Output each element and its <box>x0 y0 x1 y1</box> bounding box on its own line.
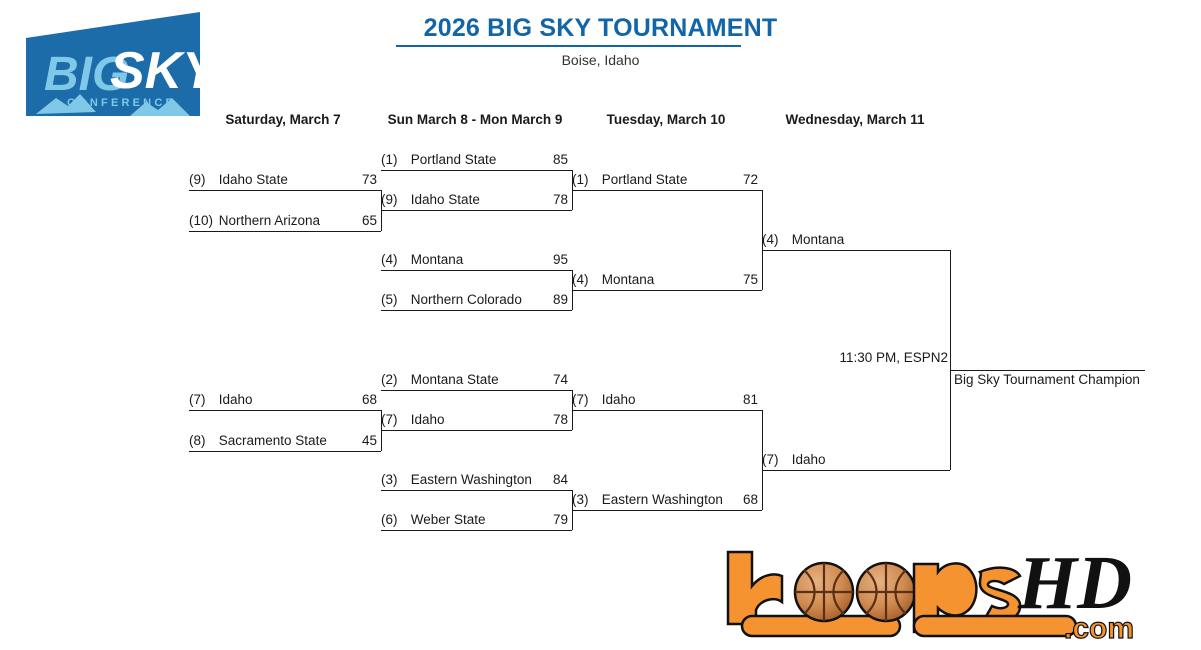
r2-slot-3: (4) Montana 95 <box>381 250 572 269</box>
r2-slot-7-team: Eastern Washington <box>411 470 532 489</box>
round-header-3: Tuesday, March 10 <box>568 112 764 127</box>
r2-line-2 <box>381 210 572 211</box>
r1-line-1 <box>189 190 381 191</box>
r1-line-3 <box>189 410 381 411</box>
r2-line-4 <box>381 310 572 311</box>
r2-slot-7-seed: (3) <box>381 470 407 489</box>
r3-line-1 <box>572 190 762 191</box>
r1-slot-3-score: 68 <box>362 390 377 409</box>
r1-slot-4-team: Sacramento State <box>219 431 327 450</box>
final-time-network: 11:30 PM, ESPN2 <box>770 350 948 365</box>
r2-slot-1: (1) Portland State 85 <box>381 150 572 169</box>
r1-slot-3-team: Idaho <box>219 390 253 409</box>
r3-slot-2-team: Montana <box>602 270 655 289</box>
r2-line-5 <box>381 390 572 391</box>
r3-slot-3: (7) Idaho 81 <box>572 390 762 409</box>
bracket-page: BIG SKY CONFERENCE 2026 BIG SKY TOURNAME… <box>0 0 1201 650</box>
r4-slot-2-team: Idaho <box>792 450 826 469</box>
r1-slot-1-team: Idaho State <box>219 170 288 189</box>
r3-slot-2-seed: (4) <box>572 270 598 289</box>
r2-slot-4-seed: (5) <box>381 290 407 309</box>
r2-slot-7-score: 84 <box>553 470 568 489</box>
r1-slot-2-seed: (10) <box>189 211 215 230</box>
r2-slot-1-team: Portland State <box>411 150 497 169</box>
r4-slot-1: (4) Montana <box>762 230 950 249</box>
page-subtitle: Boise, Idaho <box>0 52 1201 68</box>
r3-slot-1-seed: (1) <box>572 170 598 189</box>
r4-line-1 <box>762 250 950 251</box>
r4-slot-1-seed: (4) <box>762 230 788 249</box>
round-header-2: Sun March 8 - Mon March 9 <box>377 112 573 127</box>
r2-slot-8-seed: (6) <box>381 510 407 529</box>
r4-slot-2-seed: (7) <box>762 450 788 469</box>
r1-slot-4-score: 45 <box>362 431 377 450</box>
r1-slot-4: (8) Sacramento State 45 <box>189 431 381 450</box>
r2-line-3 <box>381 270 572 271</box>
r2-line-7 <box>381 490 572 491</box>
r1-slot-1-score: 73 <box>362 170 377 189</box>
round-header-1: Saturday, March 7 <box>185 112 381 127</box>
round-header-4: Wednesday, March 11 <box>757 112 953 127</box>
r1-slot-1-seed: (9) <box>189 170 215 189</box>
r3-slot-1: (1) Portland State 72 <box>572 170 762 189</box>
svg-text:SKY: SKY <box>110 42 208 100</box>
page-title: 2026 BIG SKY TOURNAMENT <box>0 14 1201 43</box>
r2-slot-6-team: Idaho <box>411 410 445 429</box>
r1-line-4 <box>189 451 381 452</box>
r2-slot-8-team: Weber State <box>411 510 486 529</box>
r1-line-2 <box>189 231 381 232</box>
r2-slot-6-score: 78 <box>553 410 568 429</box>
r2-slot-1-score: 85 <box>553 150 568 169</box>
r3-line-4 <box>572 510 762 511</box>
r2-slot-4-team: Northern Colorado <box>411 290 522 309</box>
r1-slot-4-seed: (8) <box>189 431 215 450</box>
r2-slot-8-score: 79 <box>553 510 568 529</box>
r2-slot-6-seed: (7) <box>381 410 407 429</box>
r1-slot-3-seed: (7) <box>189 390 215 409</box>
r4-connector-1 <box>950 250 951 470</box>
r2-slot-2-team: Idaho State <box>411 190 480 209</box>
r2-slot-2: (9) Idaho State 78 <box>381 190 572 209</box>
r3-slot-2-score: 75 <box>743 270 758 289</box>
r2-slot-8: (6) Weber State 79 <box>381 510 572 529</box>
r1-slot-1: (9) Idaho State 73 <box>189 170 381 189</box>
r3-slot-1-score: 72 <box>743 170 758 189</box>
champion-line <box>950 370 1145 371</box>
r2-slot-7: (3) Eastern Washington 84 <box>381 470 572 489</box>
r1-slot-3: (7) Idaho 68 <box>189 390 381 409</box>
r2-slot-4: (5) Northern Colorado 89 <box>381 290 572 309</box>
hoopshd-com-logo: HD .com <box>718 546 1146 642</box>
svg-text:.com: .com <box>1064 612 1134 642</box>
r2-line-6 <box>381 430 572 431</box>
r2-slot-2-score: 78 <box>553 190 568 209</box>
r2-slot-3-team: Montana <box>411 250 464 269</box>
r3-slot-4-score: 68 <box>743 490 758 509</box>
r3-slot-3-seed: (7) <box>572 390 598 409</box>
r3-slot-4-seed: (3) <box>572 490 598 509</box>
r3-slot-3-score: 81 <box>743 390 758 409</box>
r3-slot-4-team: Eastern Washington <box>602 490 723 509</box>
r4-slot-1-team: Montana <box>792 230 845 249</box>
r2-slot-3-seed: (4) <box>381 250 407 269</box>
r2-slot-6: (7) Idaho 78 <box>381 410 572 429</box>
r2-line-1 <box>381 170 572 171</box>
r2-slot-5-team: Montana State <box>411 370 499 389</box>
r2-slot-5-seed: (2) <box>381 370 407 389</box>
r2-slot-5-score: 74 <box>553 370 568 389</box>
champion-label: Big Sky Tournament Champion <box>954 372 1140 387</box>
r3-line-3 <box>572 410 762 411</box>
r3-slot-3-team: Idaho <box>602 390 636 409</box>
r2-line-8 <box>381 530 572 531</box>
r4-line-2 <box>762 470 950 471</box>
r3-line-2 <box>572 290 762 291</box>
r2-slot-1-seed: (1) <box>381 150 407 169</box>
r2-slot-2-seed: (9) <box>381 190 407 209</box>
r1-slot-2-score: 65 <box>362 211 377 230</box>
r1-slot-2-team: Northern Arizona <box>219 211 320 230</box>
r3-slot-4: (3) Eastern Washington 68 <box>572 490 762 509</box>
r1-slot-2: (10) Northern Arizona 65 <box>189 211 381 230</box>
r2-slot-4-score: 89 <box>553 290 568 309</box>
r3-slot-2: (4) Montana 75 <box>572 270 762 289</box>
r3-slot-1-team: Portland State <box>602 170 688 189</box>
r4-slot-2: (7) Idaho <box>762 450 950 469</box>
r2-slot-5: (2) Montana State 74 <box>381 370 572 389</box>
title-underline <box>396 45 741 47</box>
r2-slot-3-score: 95 <box>553 250 568 269</box>
